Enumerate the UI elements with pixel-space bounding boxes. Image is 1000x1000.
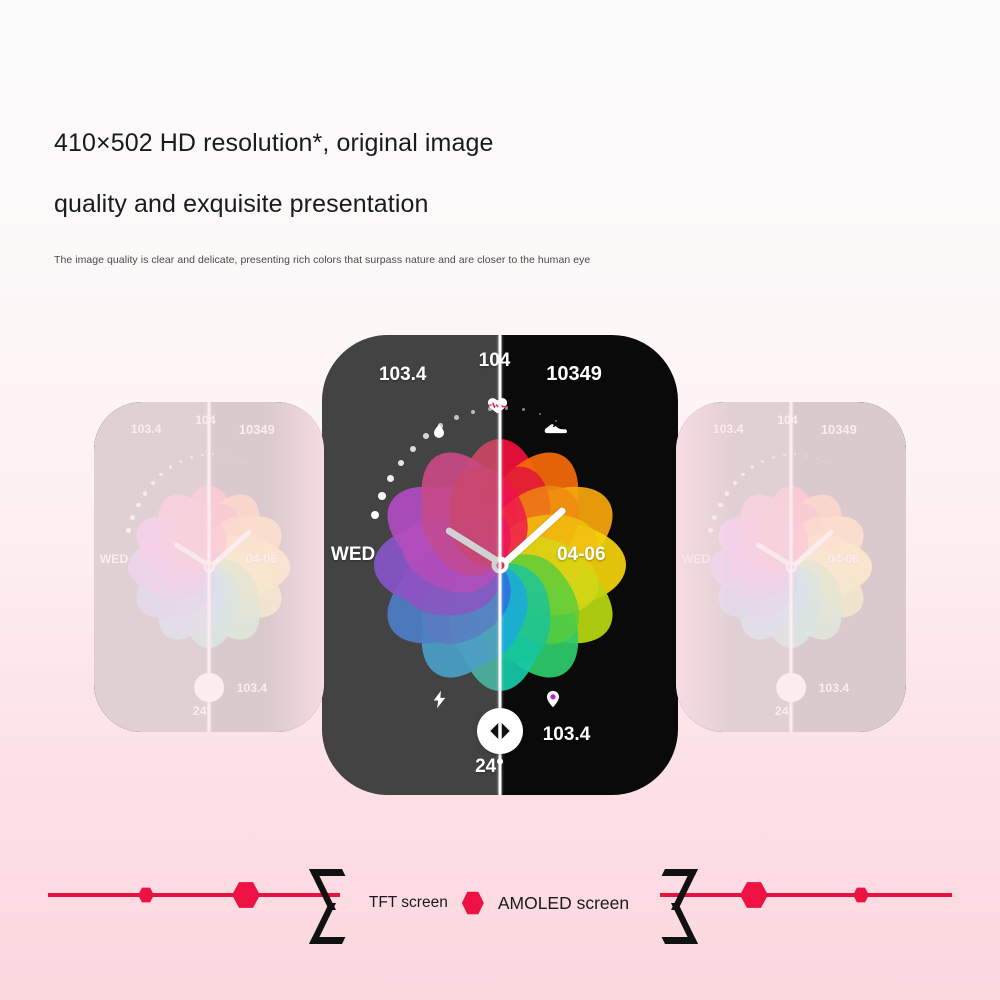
crown-button-right (776, 673, 806, 703)
arc-dot (223, 455, 225, 457)
comparison-rail: TFT screen AMOLED screen (0, 880, 1000, 940)
arc-dot (244, 463, 246, 465)
arc-dot (378, 492, 386, 500)
legend-label-amoled: AMOLED screen (498, 893, 629, 914)
headline-line-1: 410×502 HD resolution*, original image (54, 113, 674, 174)
watch-preview-right: 103.4 104 10349 WED 04-06 103.4 24° (676, 402, 906, 732)
arc-dot (794, 453, 796, 455)
crown-button-left (194, 673, 224, 703)
arc-dot (387, 475, 394, 482)
rail-marker-large-left (232, 881, 260, 909)
arc-dot (522, 408, 525, 411)
complication-top-left: 103.4 (379, 364, 427, 386)
arc-dot (143, 491, 147, 495)
arc-dot (805, 455, 807, 457)
arc-dot (190, 456, 193, 459)
arc-dot (130, 515, 135, 520)
arc-dot (126, 528, 131, 533)
arc-dot (151, 481, 155, 485)
arc-dot (751, 465, 754, 468)
heart-pulse-icon (486, 395, 509, 415)
rail-marker-small-left (138, 887, 154, 903)
complication-bottom-right-preview-r: 103.4 (819, 681, 850, 695)
complication-date-preview-r: 04-06 (828, 552, 859, 566)
complication-bottom-right-preview: 103.4 (237, 681, 268, 695)
crown-nav-button[interactable] (477, 708, 523, 754)
arc-dot (454, 415, 459, 420)
edge-fade-right (676, 402, 732, 732)
complication-top-center: 104 (479, 350, 511, 372)
legend-hexagon-icon (462, 891, 484, 915)
complication-weekday-preview: WED (100, 552, 129, 566)
arc-dot (761, 460, 764, 463)
complication-weekday: WED (331, 544, 375, 566)
page-headline: 410×502 HD resolution*, original image q… (54, 113, 674, 235)
complication-top-center-preview-r: 104 (777, 413, 797, 427)
rail-marker-small-right (853, 887, 869, 903)
rail-line-left (48, 893, 340, 897)
arc-dot (741, 473, 745, 477)
bracket-right-icon (645, 869, 671, 937)
arc-dot (410, 446, 416, 452)
arc-dot (826, 463, 828, 465)
arc-dot (169, 465, 172, 468)
page-subtitle: The image quality is clear and delicate,… (54, 254, 590, 266)
arc-dot (539, 413, 542, 416)
rail-line-right (660, 893, 952, 897)
complication-top-left-preview: 103.4 (131, 422, 162, 436)
lightning-bolt-icon (429, 689, 450, 710)
sneaker-icon (543, 418, 569, 436)
arc-dot (733, 481, 737, 485)
arc-dot (772, 456, 775, 459)
screen-type-legend: TFT screen AMOLED screen (330, 867, 670, 939)
watch-showcase: 103.4 104 10349 WED 04-06 103.4 24° 103.… (0, 330, 1000, 830)
arc-dot (136, 503, 141, 508)
arc-dot (159, 473, 163, 477)
headline-line-2: quality and exquisite presentation (54, 174, 674, 235)
water-drop-icon (429, 422, 449, 442)
bracket-left-icon (329, 869, 355, 937)
complication-bottom-right: 103.4 (543, 724, 591, 746)
arc-dot (471, 410, 475, 414)
arc-dot (212, 453, 214, 455)
arc-dot (201, 454, 204, 457)
arc-dot (234, 458, 236, 460)
complication-top-center-preview: 104 (195, 413, 215, 427)
complication-date: 04-06 (557, 544, 606, 566)
location-pin-icon (543, 689, 563, 709)
arc-dot (179, 460, 182, 463)
rail-marker-large-right (740, 881, 768, 909)
arc-dot (371, 511, 379, 519)
watch-preview-left: 103.4 104 10349 WED 04-06 103.4 24° (94, 402, 324, 732)
arc-dot (816, 458, 818, 460)
arc-dot (783, 454, 786, 457)
legend-label-tft: TFT screen (369, 894, 448, 912)
arc-dot (398, 460, 405, 467)
complication-top-right: 10349 (546, 363, 602, 386)
complication-top-right-preview-r: 10349 (821, 422, 857, 437)
edge-fade-left (268, 402, 324, 732)
watch-main[interactable]: 103.4 104 10349 WED 04-06 103.4 24° (322, 335, 678, 795)
